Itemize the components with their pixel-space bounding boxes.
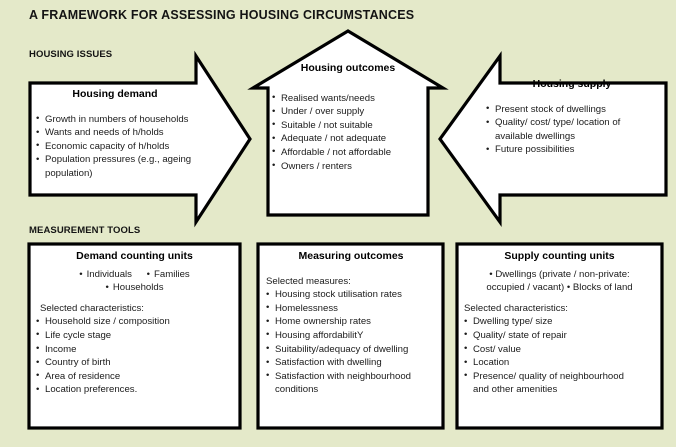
list-item: Home ownership rates <box>266 315 436 329</box>
supply-characteristics-list: Dwelling type/ size Quality/ state of re… <box>464 315 655 397</box>
housing-demand-heading: Housing demand <box>36 88 194 101</box>
list-item: Quality/ state of repair <box>464 329 655 343</box>
housing-demand-box: Housing demand Growth in numbers of hous… <box>36 88 194 181</box>
list-item: Families <box>147 268 190 282</box>
list-item: Growth in numbers of households <box>36 113 194 127</box>
list-item: Wants and needs of h/holds <box>36 126 194 140</box>
list-item: Presence/ quality of neighbourhood <box>464 370 655 384</box>
list-item: Location preferences. <box>36 383 233 397</box>
housing-supply-heading: Housing supply <box>486 78 658 91</box>
list-item: Under / over supply <box>272 105 424 119</box>
diagram-canvas: A FRAMEWORK FOR ASSESSING HOUSING CIRCUM… <box>0 0 676 447</box>
list-item-continuation: available dwellings <box>486 130 658 144</box>
list-item: Income <box>36 343 233 357</box>
supply-counting-units-heading: Supply counting units <box>464 250 655 263</box>
list-item: Population pressures (e.g., ageing <box>36 153 194 167</box>
list-item: Future possibilities <box>486 143 658 157</box>
housing-supply-box: Housing supply Present stock of dwelling… <box>486 78 658 157</box>
list-item-continuation: population) <box>36 167 194 181</box>
demand-counting-units-box: Demand counting units Individuals Famili… <box>36 250 233 397</box>
supply-units-line-1: • Dwellings (private / non-private: <box>464 268 655 282</box>
list-item: Country of birth <box>36 356 233 370</box>
housing-supply-list: Present stock of dwellings Quality/ cost… <box>486 103 658 157</box>
supply-characteristics-subheading: Selected characteristics: <box>464 302 655 316</box>
list-item: Satisfaction with dwelling <box>266 356 436 370</box>
list-item: Quality/ cost/ type/ location of <box>486 116 658 130</box>
list-item: Life cycle stage <box>36 329 233 343</box>
demand-characteristics-subheading: Selected characteristics: <box>36 302 233 316</box>
measuring-outcomes-box: Measuring outcomes Selected measures: Ho… <box>266 250 436 397</box>
housing-demand-list: Growth in numbers of households Wants an… <box>36 113 194 181</box>
list-item: Suitable / not suitable <box>272 119 424 133</box>
list-item-continuation: and other amenities <box>464 383 655 397</box>
list-item: Housing stock utilisation rates <box>266 288 436 302</box>
list-item: Owners / renters <box>272 160 424 174</box>
list-item: Realised wants/needs <box>272 92 424 106</box>
supply-counting-units-box: Supply counting units • Dwellings (priva… <box>464 250 655 397</box>
list-item: Individuals <box>79 268 132 282</box>
demand-characteristics-list: Household size / composition Life cycle … <box>36 315 233 397</box>
list-item: Affordable / not affordable <box>272 146 424 160</box>
supply-units-line-2: occupied / vacant) • Blocks of land <box>464 281 655 295</box>
housing-outcomes-box: Housing outcomes Realised wants/needs Un… <box>272 62 424 173</box>
measuring-outcomes-heading: Measuring outcomes <box>266 250 436 263</box>
list-item: Households <box>105 281 163 295</box>
list-item: Dwelling type/ size <box>464 315 655 329</box>
list-item: Satisfaction with neighbourhood <box>266 370 436 384</box>
list-item: Household size / composition <box>36 315 233 329</box>
measuring-outcomes-subheading: Selected measures: <box>266 275 436 289</box>
list-item: Adequate / not adequate <box>272 132 424 146</box>
housing-outcomes-heading: Housing outcomes <box>272 62 424 75</box>
list-item: Present stock of dwellings <box>486 103 658 117</box>
list-item: Area of residence <box>36 370 233 384</box>
list-item: Cost/ value <box>464 343 655 357</box>
demand-units-line-1: Individuals Families <box>36 268 233 282</box>
list-item: Homelessness <box>266 302 436 316</box>
list-item: Location <box>464 356 655 370</box>
housing-outcomes-list: Realised wants/needs Under / over supply… <box>272 92 424 174</box>
list-item: Economic capacity of h/holds <box>36 140 194 154</box>
measuring-outcomes-list: Housing stock utilisation rates Homeless… <box>266 288 436 397</box>
list-item-continuation: conditions <box>266 383 436 397</box>
demand-units-line-2: Households <box>36 281 233 295</box>
list-item: Housing affordabilitY <box>266 329 436 343</box>
list-item: Suitability/adequacy of dwelling <box>266 343 436 357</box>
demand-counting-units-heading: Demand counting units <box>36 250 233 263</box>
